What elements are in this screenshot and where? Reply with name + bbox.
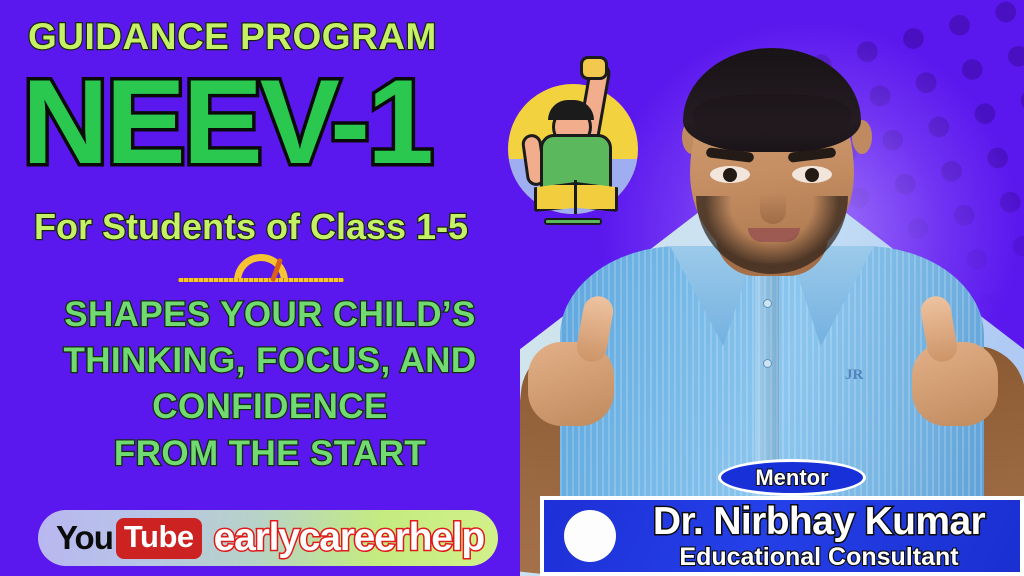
mentor-name-plate: Dr. Nirbhay Kumar Educational Consultant: [540, 496, 1024, 576]
shirt-button: [763, 299, 772, 308]
kicker-text: GUIDANCE PROGRAM: [28, 16, 437, 58]
presenter-eye-left: [710, 166, 750, 183]
tagline-line-4: FROM THE START: [0, 431, 540, 477]
youtube-logo-icon: You Tube: [56, 518, 202, 559]
shirt-button: [763, 359, 772, 368]
ruler-line: [178, 278, 344, 282]
tagline-line-3: CONFIDENCE: [0, 384, 540, 430]
avatar: [564, 510, 616, 562]
presenter-hair: [683, 48, 861, 152]
subtitle-text: For Students of Class 1-5: [34, 206, 468, 248]
illustration-raised-fist: [580, 56, 608, 80]
youtube-handle: earlycareerhelp: [214, 516, 484, 560]
thumbnail-canvas: JR GUIDANCE PROGRAM NEEV-1: [0, 0, 1024, 576]
presenter-eye-right: [792, 166, 832, 183]
tagline-line-1: SHAPES YOUR CHILD’S: [0, 292, 540, 338]
protractor-ornament-icon: [178, 254, 344, 284]
book-spine: [574, 180, 577, 214]
tagline-line-2: THINKING, FOCUS, AND: [0, 338, 540, 384]
mentor-badge-label: Mentor: [755, 465, 828, 491]
youtube-channel-badge[interactable]: You Tube earlycareerhelp: [38, 510, 498, 566]
mentor-name: Dr. Nirbhay Kumar: [632, 502, 1006, 541]
page-title: NEEV-1: [22, 62, 431, 182]
mentor-role: Educational Consultant: [632, 545, 1006, 570]
left-text-column: GUIDANCE PROGRAM NEEV-1 For Students of …: [0, 0, 540, 576]
youtube-brand-you: You: [56, 519, 113, 557]
pencil-icon: [544, 218, 602, 225]
shirt-pocket-emblem: JR: [845, 367, 875, 391]
mentor-name-block: Dr. Nirbhay Kumar Educational Consultant: [632, 502, 1020, 570]
mentor-badge: Mentor: [718, 459, 866, 496]
tagline-block: SHAPES YOUR CHILD’S THINKING, FOCUS, AND…: [0, 292, 540, 477]
youtube-brand-tube: Tube: [116, 518, 202, 559]
